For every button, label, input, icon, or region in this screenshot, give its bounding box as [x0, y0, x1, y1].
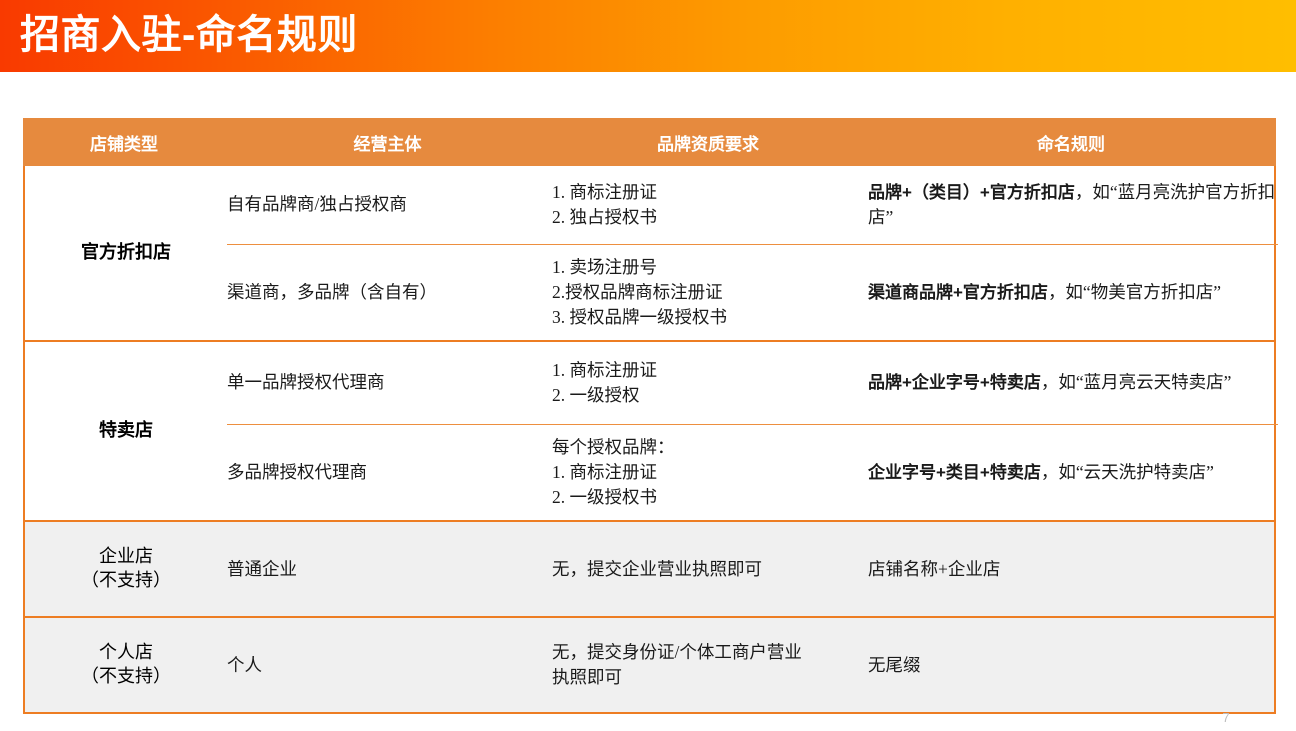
cell-naming-rule: 无尾缀	[868, 618, 1278, 712]
table-row: 个人店 （不支持） 个人 无，提交身份证/个体工商户营业 执照即可 无尾缀	[25, 618, 1278, 712]
cell-business-entity: 个人	[227, 618, 552, 712]
page-title: 招商入驻-命名规则	[20, 6, 358, 64]
naming-rule-pattern: 企业字号+类目+特卖店	[868, 463, 1041, 482]
qualification-line: 无，提交企业营业执照即可	[552, 557, 868, 582]
column-header-naming-rule: 命名规则	[866, 118, 1276, 166]
column-header-business-entity: 经营主体	[225, 118, 550, 166]
cell-business-entity: 自有品牌商/独占授权商	[227, 166, 552, 244]
cell-qualification: 1. 商标注册证 2. 独占授权书	[552, 166, 868, 244]
naming-rule-example: ，如“云天洗护特卖店”	[1041, 462, 1214, 482]
cell-shop-type: 企业店 （不支持）	[25, 522, 227, 616]
page-number: 7	[1216, 710, 1236, 725]
cell-naming-rule: 渠道商品牌+官方折扣店，如“物美官方折扣店”	[868, 244, 1278, 340]
table-header-row: 店铺类型 经营主体 品牌资质要求 命名规则	[23, 118, 1276, 166]
cell-qualification: 1. 卖场注册号 2.授权品牌商标注册证 3. 授权品牌一级授权书	[552, 244, 868, 340]
cell-naming-rule: 品牌+（类目）+官方折扣店，如“蓝月亮洗护官方折扣店”	[868, 166, 1278, 244]
qualification-line: 2.授权品牌商标注册证	[552, 280, 868, 305]
column-header-brand-qualification: 品牌资质要求	[550, 118, 866, 166]
naming-rule-pattern: 渠道商品牌+官方折扣店	[868, 283, 1048, 302]
naming-rule-pattern: 品牌+企业字号+特卖店	[868, 373, 1041, 392]
column-header-shop-type: 店铺类型	[23, 118, 225, 166]
qualification-line: 执照即可	[552, 665, 868, 690]
qualification-line: 1. 商标注册证	[552, 460, 868, 485]
qualification-line: 2. 一级授权书	[552, 485, 868, 510]
cell-qualification: 1. 商标注册证 2. 一级授权	[552, 342, 868, 424]
cell-qualification: 无，提交身份证/个体工商户营业 执照即可	[552, 618, 868, 712]
cell-business-entity: 单一品牌授权代理商	[227, 342, 552, 424]
qualification-line: 1. 商标注册证	[552, 180, 868, 205]
table-row: 企业店 （不支持） 普通企业 无，提交企业营业执照即可 店铺名称+企业店	[25, 522, 1278, 616]
table-group-official-discount: 官方折扣店 自有品牌商/独占授权商 1. 商标注册证 2. 独占授权书 品牌+（…	[23, 166, 1276, 342]
qualification-line: 2. 一级授权	[552, 383, 868, 408]
shop-type-line: 企业店	[25, 545, 227, 569]
qualification-line: 1. 卖场注册号	[552, 255, 868, 280]
qualification-line: 每个授权品牌：	[552, 435, 868, 460]
cell-business-entity: 普通企业	[227, 522, 552, 616]
naming-rules-table: 店铺类型 经营主体 品牌资质要求 命名规则 官方折扣店 自有品牌商/独占授权商 …	[23, 118, 1276, 714]
naming-rule-example: ，如“蓝月亮云天特卖店”	[1041, 372, 1232, 392]
shop-type-line: （不支持）	[25, 569, 227, 593]
table-header: 店铺类型 经营主体 品牌资质要求 命名规则	[23, 118, 1276, 166]
table-row: 官方折扣店 自有品牌商/独占授权商 1. 商标注册证 2. 独占授权书 品牌+（…	[25, 166, 1278, 244]
title-banner: 招商入驻-命名规则	[0, 0, 1296, 72]
cell-shop-type: 官方折扣店	[25, 166, 227, 340]
cell-shop-type: 个人店 （不支持）	[25, 618, 227, 712]
cell-business-entity: 渠道商，多品牌（含自有）	[227, 244, 552, 340]
qualification-line: 3. 授权品牌一级授权书	[552, 305, 868, 330]
table-row: 特卖店 单一品牌授权代理商 1. 商标注册证 2. 一级授权 品牌+企业字号+特…	[25, 342, 1278, 424]
qualification-line: 无，提交身份证/个体工商户营业	[552, 640, 868, 665]
shop-type-line: 个人店	[25, 641, 227, 665]
cell-business-entity: 多品牌授权代理商	[227, 424, 552, 520]
cell-naming-rule: 品牌+企业字号+特卖店，如“蓝月亮云天特卖店”	[868, 342, 1278, 424]
qualification-line: 2. 独占授权书	[552, 205, 868, 230]
table-group-personal-store: 个人店 （不支持） 个人 无，提交身份证/个体工商户营业 执照即可 无尾缀	[23, 618, 1276, 714]
cell-naming-rule: 店铺名称+企业店	[868, 522, 1278, 616]
naming-rule-example: ，如“物美官方折扣店”	[1048, 282, 1221, 302]
cell-qualification: 无，提交企业营业执照即可	[552, 522, 868, 616]
shop-type-line: （不支持）	[25, 665, 227, 689]
qualification-line: 1. 商标注册证	[552, 358, 868, 383]
cell-shop-type: 特卖店	[25, 342, 227, 520]
table-group-special-sale: 特卖店 单一品牌授权代理商 1. 商标注册证 2. 一级授权 品牌+企业字号+特…	[23, 342, 1276, 522]
naming-rule-pattern: 品牌+（类目）+官方折扣店	[868, 183, 1075, 202]
cell-qualification: 每个授权品牌： 1. 商标注册证 2. 一级授权书	[552, 424, 868, 520]
cell-naming-rule: 企业字号+类目+特卖店，如“云天洗护特卖店”	[868, 424, 1278, 520]
table-group-enterprise-store: 企业店 （不支持） 普通企业 无，提交企业营业执照即可 店铺名称+企业店	[23, 522, 1276, 618]
